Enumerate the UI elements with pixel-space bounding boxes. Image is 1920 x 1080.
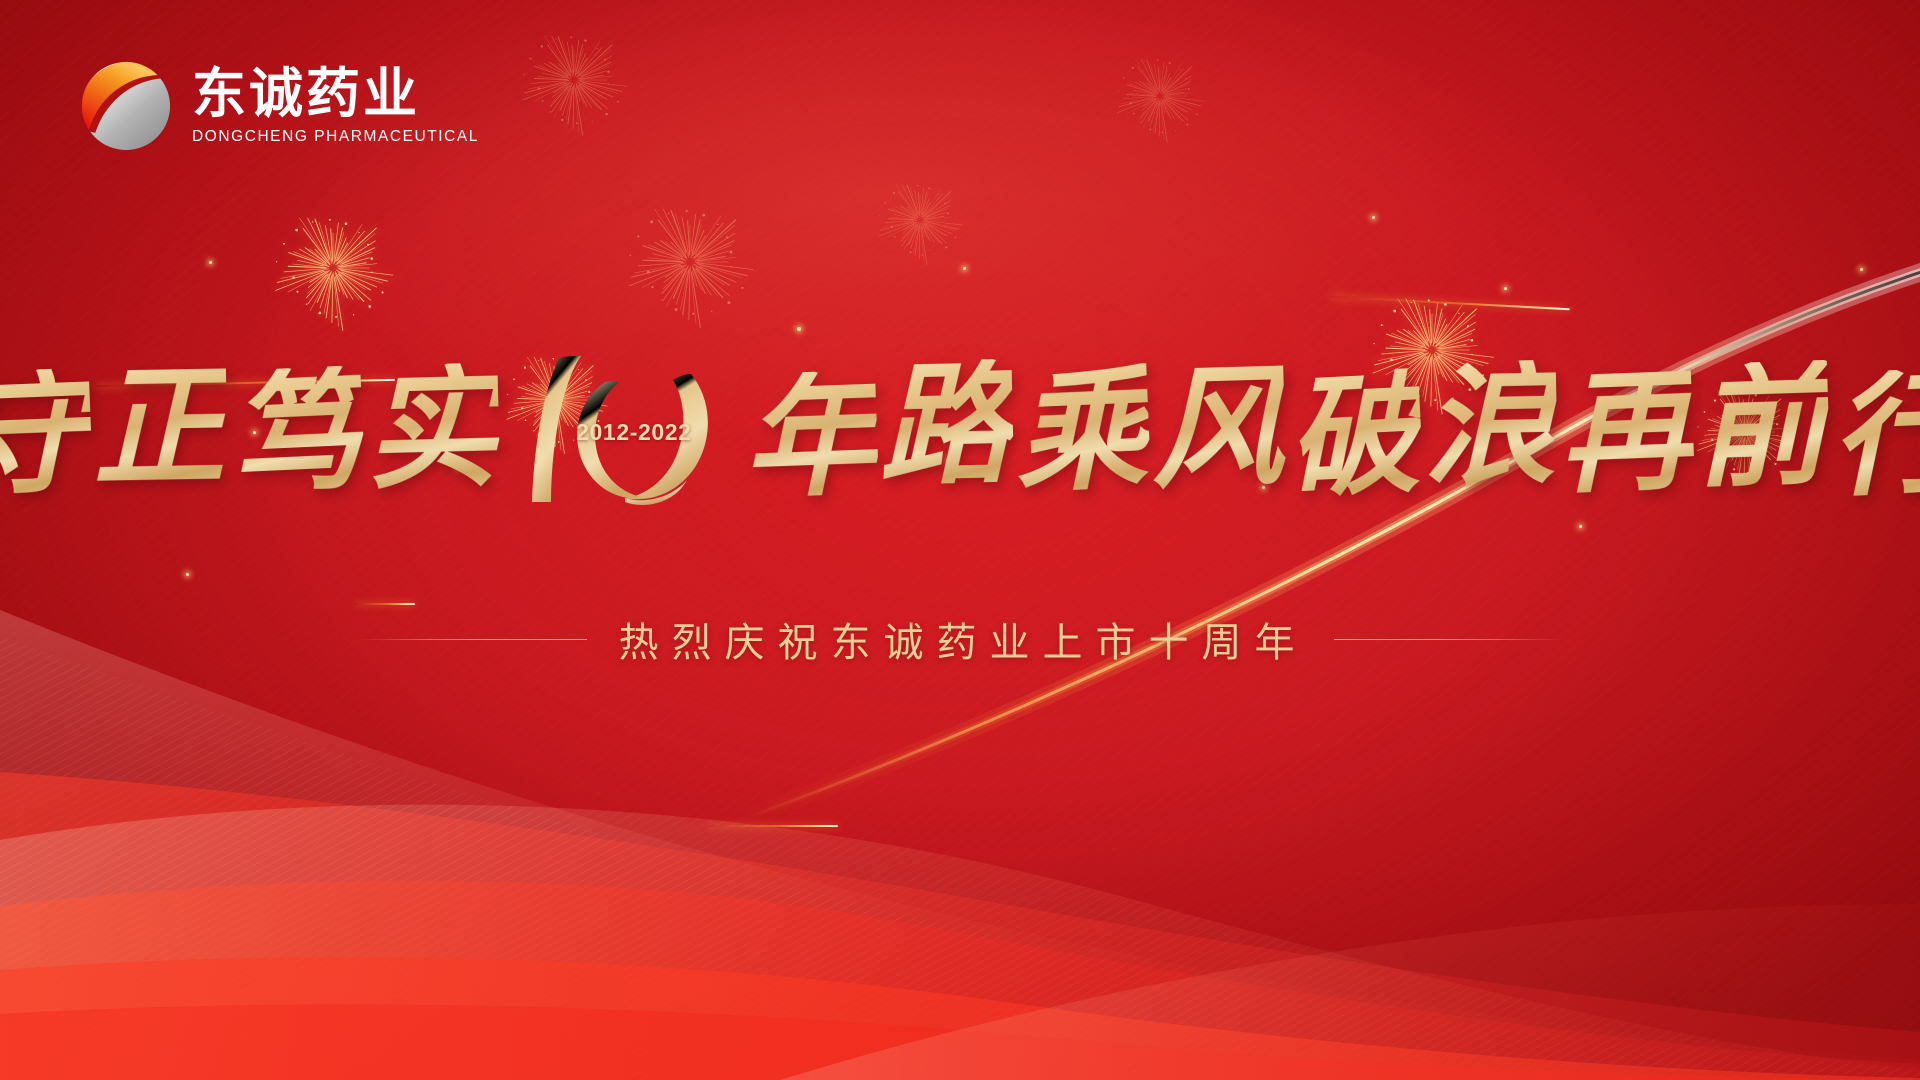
headline-calligraphy: 守 正 笃 实 — [0, 352, 1920, 512]
subtitle-text: 热烈庆祝东诚药业上市十周年 — [613, 610, 1308, 668]
company-logo[interactable]: 东诚药业 DONGCHENG PHARMACEUTICAL — [78, 58, 479, 154]
headline-char-7: 路 — [876, 359, 1015, 494]
headline-char-2: 正 — [90, 361, 228, 495]
dongcheng-sphere-logo-icon — [78, 58, 174, 154]
anniversary-banner: 东诚药业 DONGCHENG PHARMACEUTICAL 守 正 笃 实 — [0, 0, 1920, 1080]
sparkle-dot-icon — [1372, 216, 1375, 219]
headline-char-1: 守 — [0, 367, 94, 504]
headline-char-11: 浪 — [1420, 360, 1559, 495]
headline-char-13: 前 — [1691, 360, 1831, 496]
headline-char-14: 行 — [1827, 367, 1920, 504]
year-range-badge: 2012-2022 — [576, 419, 691, 446]
headline-char-12: 再 — [1555, 365, 1696, 502]
headline-char-8: 乘 — [1010, 363, 1151, 501]
sparkle-dot-icon — [1579, 525, 1582, 528]
headline-char-6: 年 — [739, 370, 880, 507]
subtitle-row: 热烈庆祝东诚药业上市十周年 — [0, 610, 1920, 668]
headline-char-4: 实 — [361, 362, 500, 497]
sparkle-dot-icon — [1860, 268, 1863, 271]
sparkle-dot-icon — [1504, 287, 1507, 290]
headline-char-10: 破 — [1282, 368, 1424, 506]
sparkle-dot-icon — [209, 261, 212, 264]
logo-company-name-cn: 东诚药业 — [192, 66, 479, 121]
ten-numeral-mark: 2012-2022 — [495, 352, 745, 512]
sparkle-dot-icon — [963, 267, 966, 270]
subtitle-rule-right — [1334, 639, 1564, 640]
logo-company-name-en: DONGCHENG PHARMACEUTICAL — [192, 128, 479, 146]
sparkle-dot-icon — [797, 327, 801, 331]
headline-char-3: 笃 — [224, 365, 366, 503]
subtitle-rule-left — [357, 639, 587, 640]
headline-char-9: 风 — [1147, 361, 1287, 497]
